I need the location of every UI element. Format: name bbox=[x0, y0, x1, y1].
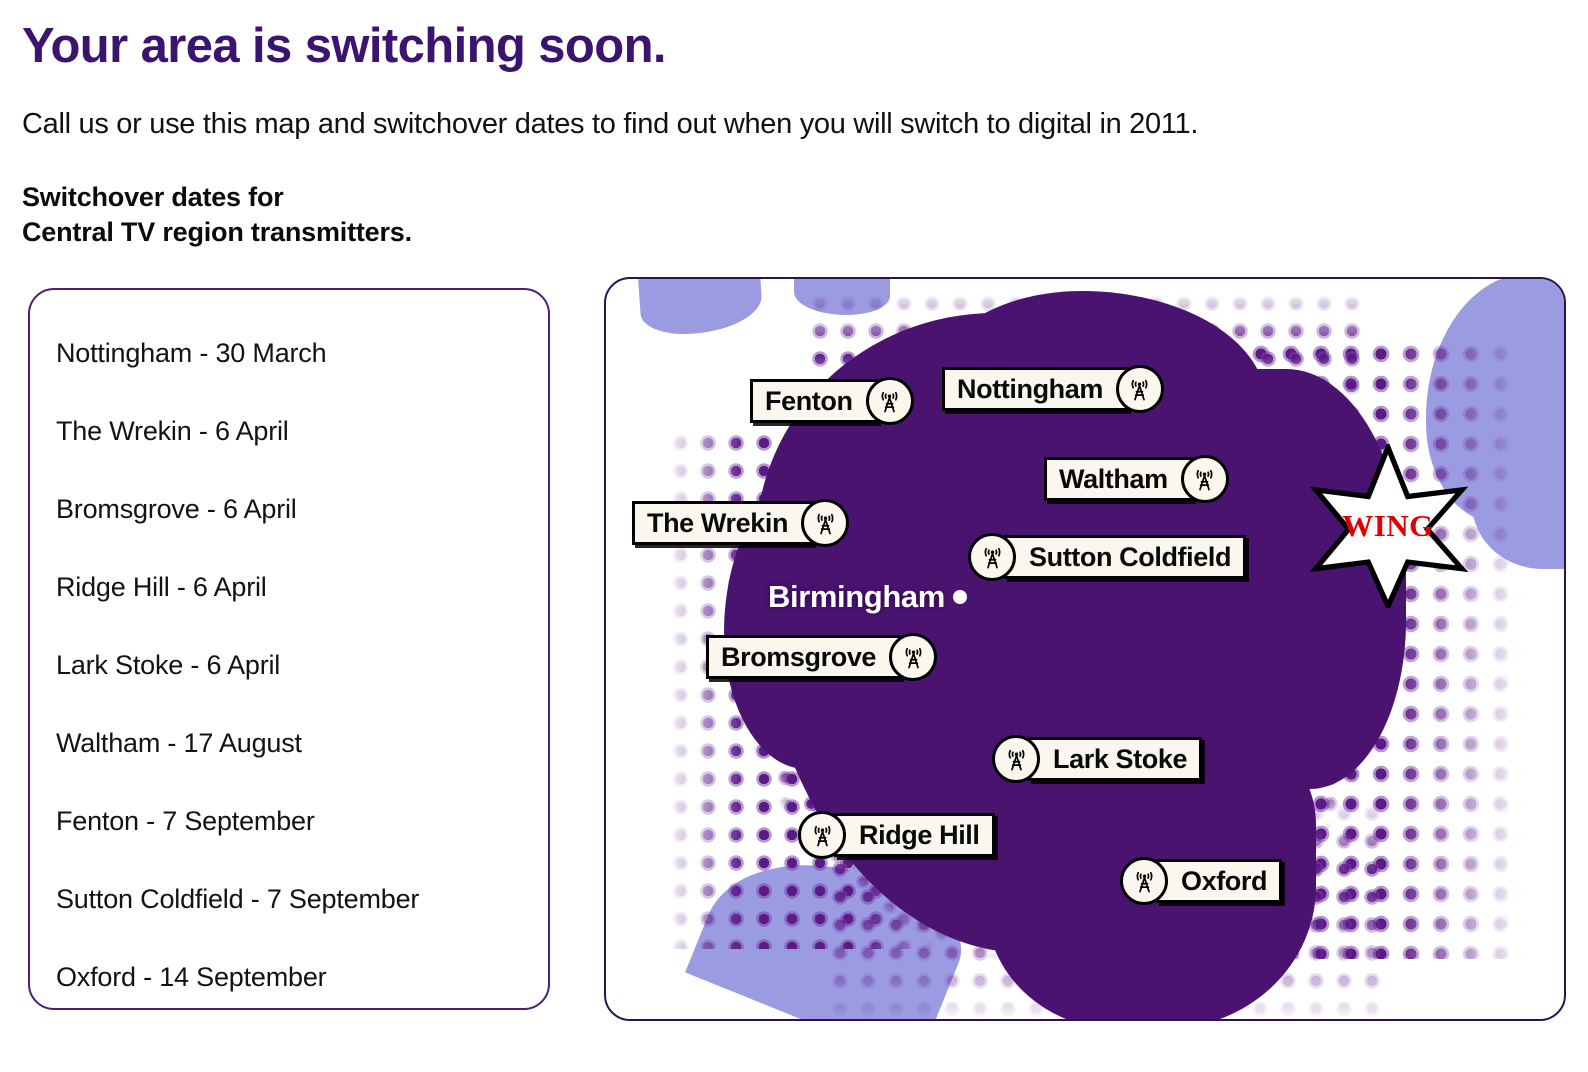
section-title-line-1: Switchover dates for bbox=[22, 180, 412, 215]
map-marker-label: Bromsgrove bbox=[706, 635, 901, 679]
section-title-line-2: Central TV region transmitters. bbox=[22, 215, 412, 250]
map-marker-bromsgrove[interactable]: Bromsgrove bbox=[706, 635, 937, 679]
list-item: Oxford - 14 September bbox=[56, 938, 534, 1016]
list-item: Sutton Coldfield - 7 September bbox=[56, 860, 534, 938]
map-marker-the-wrekin[interactable]: The Wrekin bbox=[632, 501, 849, 545]
transmitter-mast-icon bbox=[866, 377, 914, 425]
map-marker-label: Oxford bbox=[1156, 859, 1282, 903]
map-marker-label: Nottingham bbox=[942, 367, 1128, 411]
map-marker-nottingham[interactable]: Nottingham bbox=[942, 367, 1164, 411]
page-title: Your area is switching soon. bbox=[22, 18, 666, 74]
transmitter-mast-icon bbox=[801, 499, 849, 547]
wing-star-label: WING bbox=[1306, 444, 1470, 608]
map-marker-label: The Wrekin bbox=[632, 501, 813, 545]
list-item: Fenton - 7 September bbox=[56, 782, 534, 860]
list-item: The Wrekin - 6 April bbox=[56, 392, 534, 470]
transmitter-mast-icon bbox=[1181, 455, 1229, 503]
map-marker-fenton[interactable]: Fenton bbox=[750, 379, 914, 423]
map-marker-label: Sutton Coldfield bbox=[1004, 535, 1246, 579]
list-item: Ridge Hill - 6 April bbox=[56, 548, 534, 626]
map-marker-lark-stoke[interactable]: Lark Stoke bbox=[992, 737, 1202, 781]
map-marker-label: Waltham bbox=[1044, 457, 1193, 501]
switchover-dates-panel: Nottingham - 30 March The Wrekin - 6 Apr… bbox=[28, 288, 550, 1010]
section-title: Switchover dates for Central TV region t… bbox=[22, 180, 412, 249]
transmitter-mast-icon bbox=[1120, 857, 1168, 905]
map-canvas: Birmingham Fenton Nottingham bbox=[606, 279, 1564, 1019]
transmitter-mast-icon bbox=[968, 533, 1016, 581]
city-dot-icon bbox=[953, 590, 967, 604]
transmitter-mast-icon bbox=[889, 633, 937, 681]
list-item: Nottingham - 30 March bbox=[56, 314, 534, 392]
list-item: Waltham - 17 August bbox=[56, 704, 534, 782]
transmitter-mast-icon bbox=[1116, 365, 1164, 413]
transmitter-mast-icon bbox=[992, 735, 1040, 783]
map-marker-label: Fenton bbox=[750, 379, 878, 423]
page-subtitle: Call us or use this map and switchover d… bbox=[22, 108, 1198, 141]
map-marker-oxford[interactable]: Oxford bbox=[1120, 859, 1282, 903]
list-item: Lark Stoke - 6 April bbox=[56, 626, 534, 704]
switchover-dates-list: Nottingham - 30 March The Wrekin - 6 Apr… bbox=[56, 314, 534, 1016]
transmitter-mast-icon bbox=[798, 811, 846, 859]
map-marker-label: Ridge Hill bbox=[834, 813, 995, 857]
map-marker-sutton-coldfield[interactable]: Sutton Coldfield bbox=[968, 535, 1246, 579]
list-item: Bromsgrove - 6 April bbox=[56, 470, 534, 548]
coverage-map-panel: Birmingham Fenton Nottingham bbox=[604, 277, 1566, 1021]
map-marker-waltham[interactable]: Waltham bbox=[1044, 457, 1229, 501]
map-marker-ridge-hill[interactable]: Ridge Hill bbox=[798, 813, 995, 857]
map-marker-label: Lark Stoke bbox=[1028, 737, 1202, 781]
city-label-birmingham: Birmingham bbox=[768, 579, 967, 615]
wing-location-star[interactable]: WING bbox=[1306, 444, 1470, 608]
city-name-text: Birmingham bbox=[768, 579, 945, 615]
